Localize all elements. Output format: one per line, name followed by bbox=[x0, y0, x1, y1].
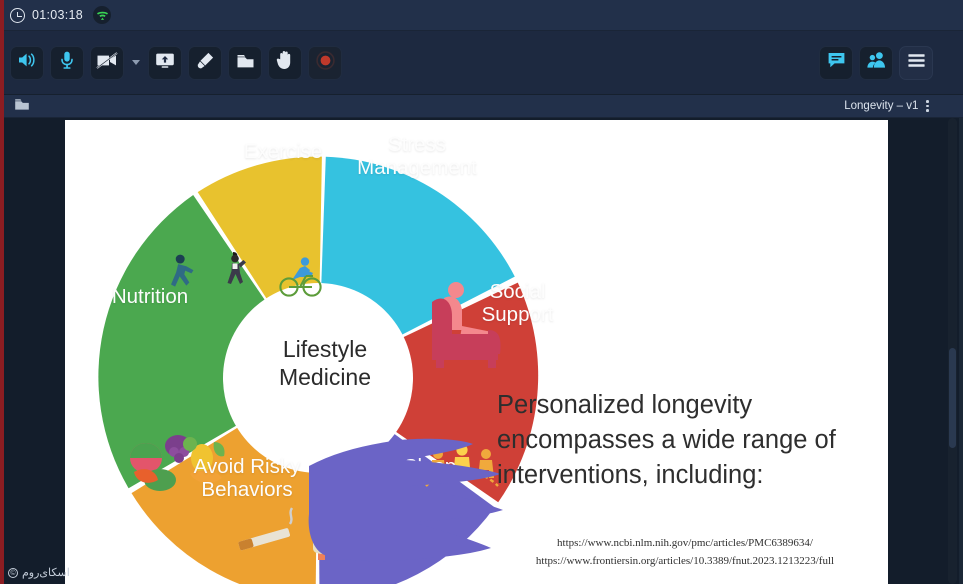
watermark-text: اسکای‌روم bbox=[22, 566, 70, 579]
wifi-signal-icon bbox=[93, 6, 111, 24]
segment-label-social-line1: Social bbox=[490, 280, 546, 303]
segment-label-stress-line1: Stress bbox=[388, 133, 446, 156]
record-button[interactable] bbox=[308, 46, 342, 80]
whiteboard-pen-button[interactable] bbox=[188, 46, 222, 80]
hamburger-menu-icon bbox=[907, 53, 926, 73]
record-dot-icon bbox=[316, 51, 335, 75]
menu-button[interactable] bbox=[899, 46, 933, 80]
segment-label-avoid-line2: Behaviors bbox=[201, 478, 292, 501]
segment-label-avoid: Avoid Risky Behaviors bbox=[157, 456, 337, 502]
segment-label-stress-line2: Management bbox=[357, 156, 477, 179]
wheel-hub-label-line1: Lifestyle bbox=[283, 336, 367, 362]
brush-icon bbox=[196, 51, 215, 75]
segment-label-avoid-line1: Avoid Risky bbox=[194, 455, 301, 478]
more-vertical-icon[interactable] bbox=[924, 98, 931, 114]
reference-1: https://www.ncbi.nlm.nih.gov/pmc/article… bbox=[485, 534, 885, 552]
slide-canvas[interactable]: z z z bbox=[65, 120, 888, 584]
camera-off-icon bbox=[96, 52, 118, 74]
screen-share-icon bbox=[155, 52, 175, 74]
briefcase-icon bbox=[236, 52, 255, 74]
screen-share-button[interactable] bbox=[148, 46, 182, 80]
wheel-hub-label-line2: Medicine bbox=[279, 364, 371, 390]
camera-options-dropdown[interactable] bbox=[132, 60, 140, 65]
folder-icon[interactable] bbox=[14, 97, 30, 116]
microphone-icon bbox=[60, 50, 74, 75]
segment-label-exercise: Exercise bbox=[213, 141, 353, 164]
microphone-button[interactable] bbox=[50, 46, 84, 80]
participants-button[interactable] bbox=[859, 46, 893, 80]
toolbar-left-group bbox=[10, 46, 342, 80]
platform-watermark: اسکای‌روم © bbox=[8, 566, 70, 579]
segment-label-nutrition: Nutrition bbox=[75, 286, 225, 309]
speaker-button[interactable] bbox=[10, 46, 44, 80]
wheel-hub-label: Lifestyle Medicine bbox=[240, 336, 410, 391]
chat-bubble-icon bbox=[827, 51, 846, 74]
session-timer: 01:03:18 bbox=[32, 8, 83, 22]
document-title: Longevity – v1 bbox=[844, 100, 918, 112]
hand-icon bbox=[276, 50, 294, 75]
copyright-icon: © bbox=[8, 568, 18, 578]
segment-label-social-line2: Support bbox=[482, 303, 554, 326]
segment-label-social: Social Support bbox=[450, 281, 585, 327]
segment-label-sleep: Sleep bbox=[365, 456, 495, 479]
clock-icon bbox=[10, 8, 25, 23]
files-button[interactable] bbox=[228, 46, 262, 80]
window-left-accent-strip bbox=[0, 0, 4, 584]
participants-icon bbox=[866, 51, 887, 74]
meeting-toolbar bbox=[0, 31, 963, 95]
vertical-scrollbar[interactable] bbox=[948, 118, 957, 584]
presentation-stage: z z z bbox=[0, 118, 963, 584]
lifestyle-medicine-wheel: z z z bbox=[65, 120, 585, 584]
segment-label-stress: Stress Management bbox=[337, 134, 497, 180]
camera-button[interactable] bbox=[90, 46, 124, 80]
status-bar: 01:03:18 bbox=[0, 0, 963, 31]
slide-body-text: Personalized longevity encompasses a wid… bbox=[497, 388, 867, 494]
speaker-icon bbox=[17, 51, 37, 74]
vertical-scrollbar-thumb[interactable] bbox=[949, 348, 956, 448]
raise-hand-button[interactable] bbox=[268, 46, 302, 80]
chat-button[interactable] bbox=[819, 46, 853, 80]
toolbar-right-group bbox=[819, 46, 953, 80]
meeting-app-window: 01:03:18 bbox=[0, 0, 963, 584]
stage-right-rail bbox=[959, 118, 963, 584]
reference-2: https://www.frontiersin.org/articles/10.… bbox=[485, 552, 885, 570]
slide-references: https://www.ncbi.nlm.nih.gov/pmc/article… bbox=[485, 534, 885, 570]
document-tab[interactable]: Longevity – v1 bbox=[844, 98, 955, 114]
document-tab-bar: Longevity – v1 bbox=[0, 95, 963, 118]
